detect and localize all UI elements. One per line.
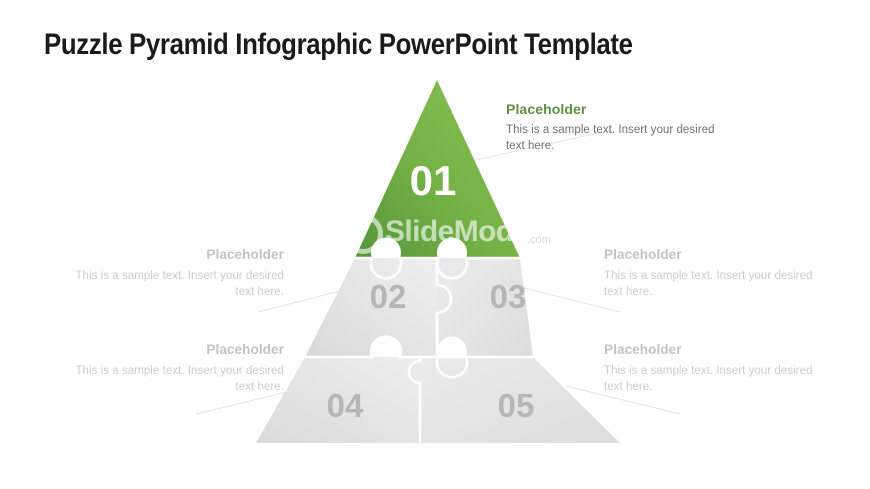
pyramid-number-05: 05 xyxy=(498,387,535,424)
callout-02[interactable]: Placeholder This is a sample text. Inser… xyxy=(68,246,284,300)
callout-01-body: This is a sample text. Insert your desir… xyxy=(506,123,722,154)
callout-04-body: This is a sample text. Insert your desir… xyxy=(68,364,284,395)
callout-02-body: This is a sample text. Insert your desir… xyxy=(68,269,284,300)
puzzle-pyramid-graphic: 01 02 03 04 05 xyxy=(0,0,870,489)
callout-05-title: Placeholder xyxy=(604,341,820,359)
callout-03[interactable]: Placeholder This is a sample text. Inser… xyxy=(604,246,820,300)
callout-05-body: This is a sample text. Insert your desir… xyxy=(604,364,820,395)
callout-03-body: This is a sample text. Insert your desir… xyxy=(604,269,820,300)
callout-04-title: Placeholder xyxy=(68,341,284,359)
pyramid-number-01: 01 xyxy=(410,157,457,204)
callout-01[interactable]: Placeholder This is a sample text. Inser… xyxy=(506,100,722,154)
slide-canvas: Puzzle Pyramid Infographic PowerPoint Te… xyxy=(0,0,870,489)
pyramid-number-02: 02 xyxy=(370,278,407,315)
pyramid-number-03: 03 xyxy=(490,278,527,315)
callout-05[interactable]: Placeholder This is a sample text. Inser… xyxy=(604,341,820,395)
callout-04[interactable]: Placeholder This is a sample text. Inser… xyxy=(68,341,284,395)
callout-02-title: Placeholder xyxy=(68,246,284,264)
callout-01-title: Placeholder xyxy=(506,100,722,118)
callout-03-title: Placeholder xyxy=(604,246,820,264)
pyramid-number-04: 04 xyxy=(327,387,364,424)
